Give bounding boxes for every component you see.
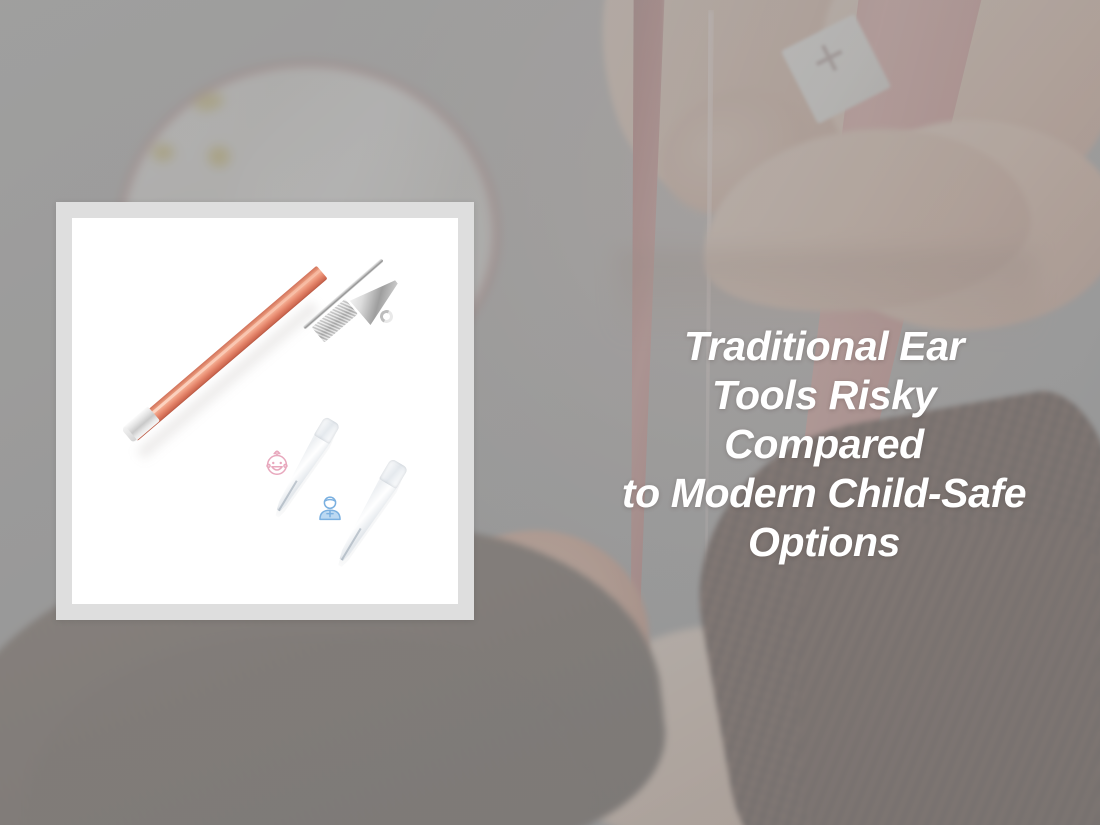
product-card: [56, 202, 474, 620]
tool-ferrule: [312, 299, 358, 343]
headline-line-2: Tools Risky Compared: [617, 371, 1031, 469]
tool-handle: [126, 266, 327, 441]
product-card-image: [72, 218, 458, 604]
page-title: Traditional Ear Tools Risky Compared to …: [617, 322, 1031, 567]
doctor-icon: [316, 494, 344, 522]
poster-canvas: Traditional Ear Tools Risky Compared to …: [0, 0, 1100, 825]
tool-loop-tip: [378, 308, 395, 325]
headline-line-3: to Modern Child-Safe: [617, 469, 1031, 518]
headline-line-4: Options: [617, 518, 1031, 567]
tool-cone: [344, 263, 413, 332]
headline-line-1: Traditional Ear: [617, 322, 1031, 371]
tool-shadow: [137, 302, 321, 462]
baby-face-icon: [262, 448, 292, 478]
